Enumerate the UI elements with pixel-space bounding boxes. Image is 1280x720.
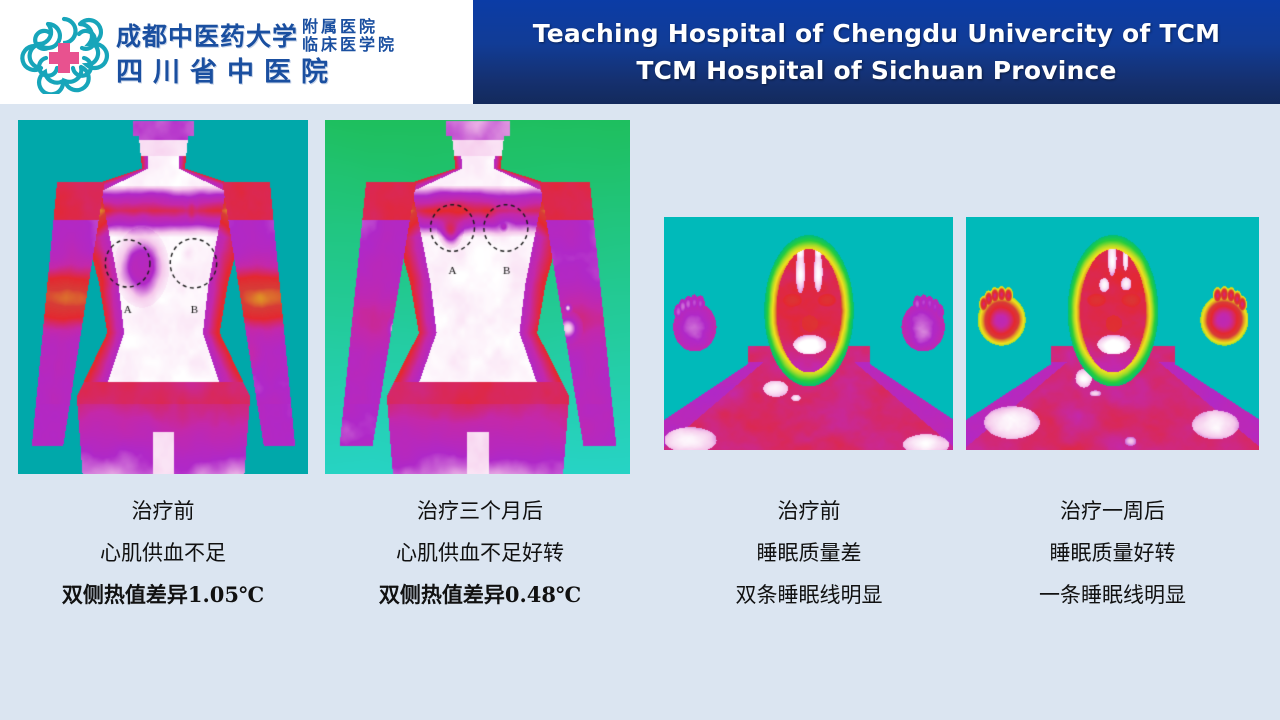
header-title-line-1: Teaching Hospital of Chengdu Univercity …: [533, 15, 1220, 52]
logo-affiliation-line-1: 附属医院: [302, 18, 397, 36]
logo-hospital-name: 四川省中医院: [116, 59, 397, 86]
caption-head-after: 治疗一周后 睡眠质量好转 一条睡眠线明显: [966, 490, 1259, 616]
caption-line: 心肌供血不足好转: [325, 532, 635, 574]
slide-header: 成都中医药大学 附属医院 临床医学院 四川省中医院 Teaching Hospi…: [0, 0, 1280, 104]
caption-line: 双侧热值差异0.48℃: [325, 574, 635, 616]
logo-university-name: 成都中医药大学: [116, 24, 298, 49]
thermogram-head-after: [966, 217, 1259, 450]
caption-line: 治疗前: [664, 490, 954, 532]
thermogram-torso-before: [18, 120, 308, 474]
caption-head-before: 治疗前 睡眠质量差 双条睡眠线明显: [664, 490, 954, 616]
caption-line: 睡眠质量差: [664, 532, 954, 574]
hospital-logo-text: 成都中医药大学 附属医院 临床医学院 四川省中医院: [116, 9, 397, 95]
thermogram-torso-after: [325, 120, 630, 474]
caption-line: 一条睡眠线明显: [966, 574, 1259, 616]
thermogram-head-before: [664, 217, 953, 450]
caption-line: 治疗前: [8, 490, 318, 532]
hospital-cloud-cross-logo-icon: [18, 10, 110, 94]
caption-line: 双条睡眠线明显: [664, 574, 954, 616]
caption-line: 治疗一周后: [966, 490, 1259, 532]
caption-line: 双侧热值差异1.05℃: [8, 574, 318, 616]
header-title-panel: Teaching Hospital of Chengdu Univercity …: [473, 0, 1280, 104]
logo-affiliation-line-2: 临床医学院: [302, 36, 397, 54]
hospital-logo-panel: 成都中医药大学 附属医院 临床医学院 四川省中医院: [0, 0, 473, 104]
caption-torso-before: 治疗前 心肌供血不足 双侧热值差异1.05℃: [8, 490, 318, 616]
caption-line: 治疗三个月后: [325, 490, 635, 532]
header-title-line-2: TCM Hospital of Sichuan Province: [636, 52, 1116, 89]
slide-root: 成都中医药大学 附属医院 临床医学院 四川省中医院 Teaching Hospi…: [0, 0, 1280, 720]
caption-line: 心肌供血不足: [8, 532, 318, 574]
caption-line: 睡眠质量好转: [966, 532, 1259, 574]
caption-torso-after: 治疗三个月后 心肌供血不足好转 双侧热值差异0.48℃: [325, 490, 635, 616]
